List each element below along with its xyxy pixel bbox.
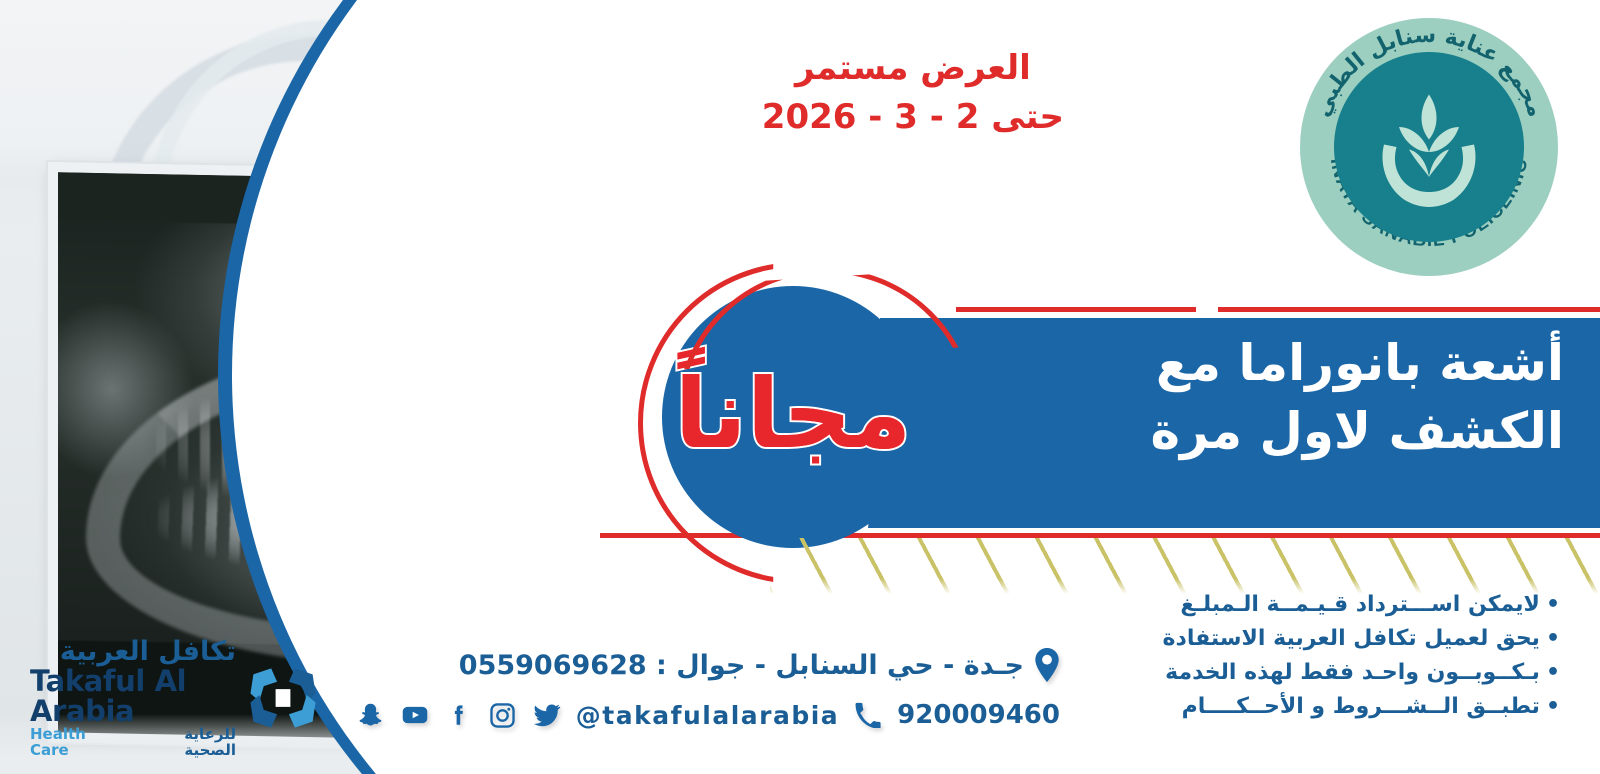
phone-icon xyxy=(853,700,883,730)
term-text: يحق لعميل تكافل العربية الاستفادة xyxy=(1163,626,1540,651)
address-text: جـدة - حي السنابل - جوال : 0559069628 xyxy=(459,650,1024,681)
youtube-icon[interactable] xyxy=(400,700,430,730)
sponsor-english-name: Takaful Al Arabia xyxy=(30,666,236,727)
diagonal-hatch-strip xyxy=(770,538,1600,594)
hands-holding-plant-icon xyxy=(1354,72,1504,222)
seal-inner-disc xyxy=(1334,52,1524,242)
snapchat-icon[interactable] xyxy=(356,700,386,730)
instagram-icon[interactable] xyxy=(488,700,518,730)
sponsor-subtitle: للرعاية الصحية Health Care xyxy=(30,727,236,759)
list-item: •تطبــق الــشـــروط و الأحــكــــام xyxy=(1140,690,1560,724)
sponsor-subtitle-arabic: للرعاية الصحية xyxy=(133,727,236,759)
bullet-icon: • xyxy=(1546,656,1560,690)
term-text: بـكــوبــون واحـد فقط لهذه الخدمة xyxy=(1165,660,1540,685)
headline-text: أشعة بانوراما مع الكشف لاول مرة xyxy=(924,330,1564,465)
sponsor-logo-text: تكافل العربية Takaful Al Arabia للرعاية … xyxy=(30,638,236,759)
free-label: مجاناً xyxy=(675,366,912,462)
promo-banner: العرض مستمر حتى 2 - 3 - 2026 مجمع عناية … xyxy=(0,0,1600,774)
list-item: •لايمكن اســـترداد قـيـمــة الـمبلـغ xyxy=(1140,588,1560,622)
location-pin-icon xyxy=(1034,648,1060,682)
social-handle[interactable]: @takafulalarabia xyxy=(576,701,839,730)
social-row: 920009460 @takafulalarabia xyxy=(356,700,1060,730)
bullet-icon: • xyxy=(1546,690,1560,724)
bullet-icon: • xyxy=(1546,622,1560,656)
facebook-icon[interactable] xyxy=(444,700,474,730)
terms-list: •لايمكن اســـترداد قـيـمــة الـمبلـغ •يح… xyxy=(1140,588,1560,724)
term-text: تطبــق الــشـــروط و الأحــكــــام xyxy=(1182,694,1540,719)
sponsor-arabic-name: تكافل العربية xyxy=(60,638,236,666)
term-text: لايمكن اســـترداد قـيـمــة الـمبلـغ xyxy=(1180,592,1540,617)
offer-valid-until-text: حتى 2 - 3 - 2026 xyxy=(762,93,1064,142)
bullet-icon: • xyxy=(1546,588,1560,622)
red-accent-line-top-right xyxy=(1218,307,1600,312)
phone-number[interactable]: 920009460 xyxy=(897,700,1060,730)
offer-status-text: العرض مستمر xyxy=(762,44,1064,93)
address-line: جـدة - حي السنابل - جوال : 0559069628 xyxy=(459,648,1060,682)
red-accent-line-top-left xyxy=(956,307,1196,312)
twitter-icon[interactable] xyxy=(532,700,562,730)
headline-line-1: أشعة بانوراما مع xyxy=(924,330,1564,398)
clinic-logo-seal: مجمع عناية سنابل الطبي INAYA SANABIL POL… xyxy=(1300,18,1558,276)
headline-line-2: الكشف لاول مرة xyxy=(924,398,1564,466)
sponsor-subtitle-english: Health Care xyxy=(30,727,125,759)
pinwheel-icon xyxy=(246,661,320,735)
list-item: •بـكــوبــون واحـد فقط لهذه الخدمة xyxy=(1140,656,1560,690)
sponsor-logo: تكافل العربية Takaful Al Arabia للرعاية … xyxy=(30,648,320,748)
offer-date-block: العرض مستمر حتى 2 - 3 - 2026 xyxy=(762,44,1064,143)
list-item: •يحق لعميل تكافل العربية الاستفادة xyxy=(1140,622,1560,656)
